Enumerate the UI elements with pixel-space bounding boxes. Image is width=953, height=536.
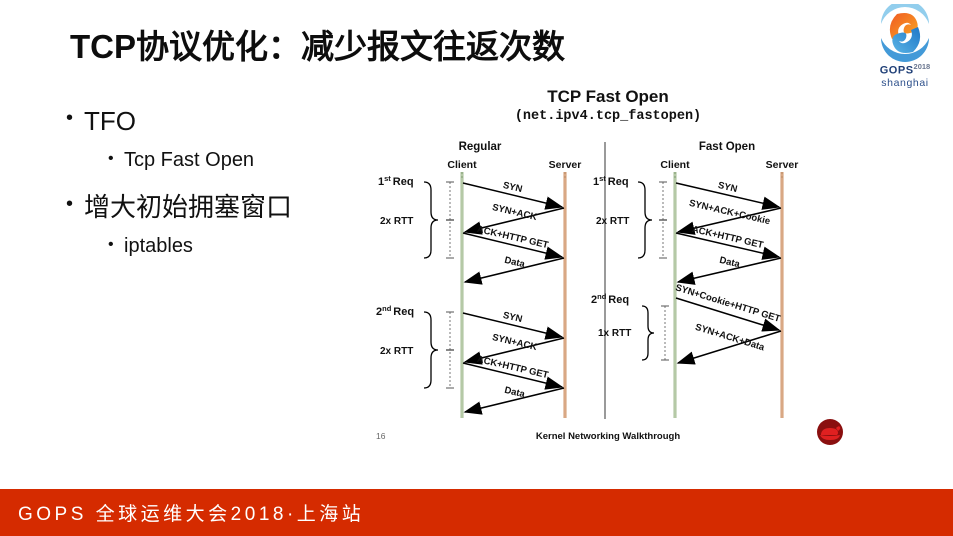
bullet-dot-icon: •	[108, 147, 124, 171]
bullet-level2-tcp-fast-open: • Tcp Fast Open	[108, 147, 386, 174]
gops-wordmark-text: GOPS	[880, 65, 914, 77]
redhat-shadowman-logo	[817, 419, 843, 445]
bullet-dot-icon: •	[66, 190, 84, 219]
bullet-level1-initcwnd: • 增大初始拥塞窗口	[66, 190, 386, 225]
bullet-level1-tfo: • TFO	[66, 104, 386, 139]
bullet-level1-label: 增大初始拥塞窗口	[84, 190, 292, 225]
request-label-fastopen-1: 1stReq	[593, 174, 629, 188]
tcp-fast-open-diagram: TCP Fast Open (net.ipv4.tcp_fastopen) Re…	[362, 84, 854, 452]
gops-year: 2018	[914, 62, 931, 71]
slide-canvas: TCP协议优化：减少报文往返次数 • TFO • Tcp Fast Open •…	[0, 0, 953, 536]
footer-bar-text: GOPS 全球运维大会2018·上海站	[18, 499, 364, 526]
request-label-regular-2: 2ndReq	[376, 304, 414, 318]
rtt-label-fastopen-1: 2x RTT	[596, 216, 629, 227]
request-label-regular-1: 1stReq	[378, 174, 414, 188]
gops-brand-logo: GOPS2018 shanghai	[867, 4, 943, 92]
footer-bar: GOPS 全球运维大会2018·上海站	[0, 489, 953, 536]
panel-header-fastopen: Fast Open	[699, 141, 755, 153]
bullet-dot-icon: •	[108, 233, 124, 257]
bullet-level1-label: TFO	[84, 104, 136, 139]
bullet-dot-icon: •	[66, 104, 84, 133]
request-label-fastopen-2: 2ndReq	[591, 292, 629, 306]
diagram-page-number: 16	[376, 431, 386, 441]
actor-label-client: Client	[447, 159, 477, 171]
actor-label-server: Server	[766, 159, 799, 171]
diagram-subtitle: (net.ipv4.tcp_fastopen)	[515, 109, 701, 124]
bullet-level2-label: iptables	[124, 233, 193, 260]
gops-wordmark: GOPS2018	[867, 63, 943, 77]
bullet-list: • TFO • Tcp Fast Open • 增大初始拥塞窗口 • iptab…	[66, 104, 386, 276]
gops-city-label: shanghai	[867, 77, 943, 90]
rtt-label-regular-2: 2x RTT	[380, 346, 413, 357]
actor-label-client: Client	[660, 159, 690, 171]
rtt-label-regular-1: 2x RTT	[380, 216, 413, 227]
panel-header-regular: Regular	[459, 141, 502, 153]
actor-label-server: Server	[549, 159, 582, 171]
rtt-label-fastopen-2: 1x RTT	[598, 328, 631, 339]
page-title: TCP协议优化：减少报文往返次数	[70, 20, 565, 68]
gops-swirl-icon	[875, 4, 935, 62]
diagram-footer-caption: Kernel Networking Walkthrough	[536, 431, 680, 442]
bullet-level2-iptables: • iptables	[108, 233, 386, 260]
diagram-title: TCP Fast Open	[547, 87, 669, 106]
bullet-level2-label: Tcp Fast Open	[124, 147, 254, 174]
